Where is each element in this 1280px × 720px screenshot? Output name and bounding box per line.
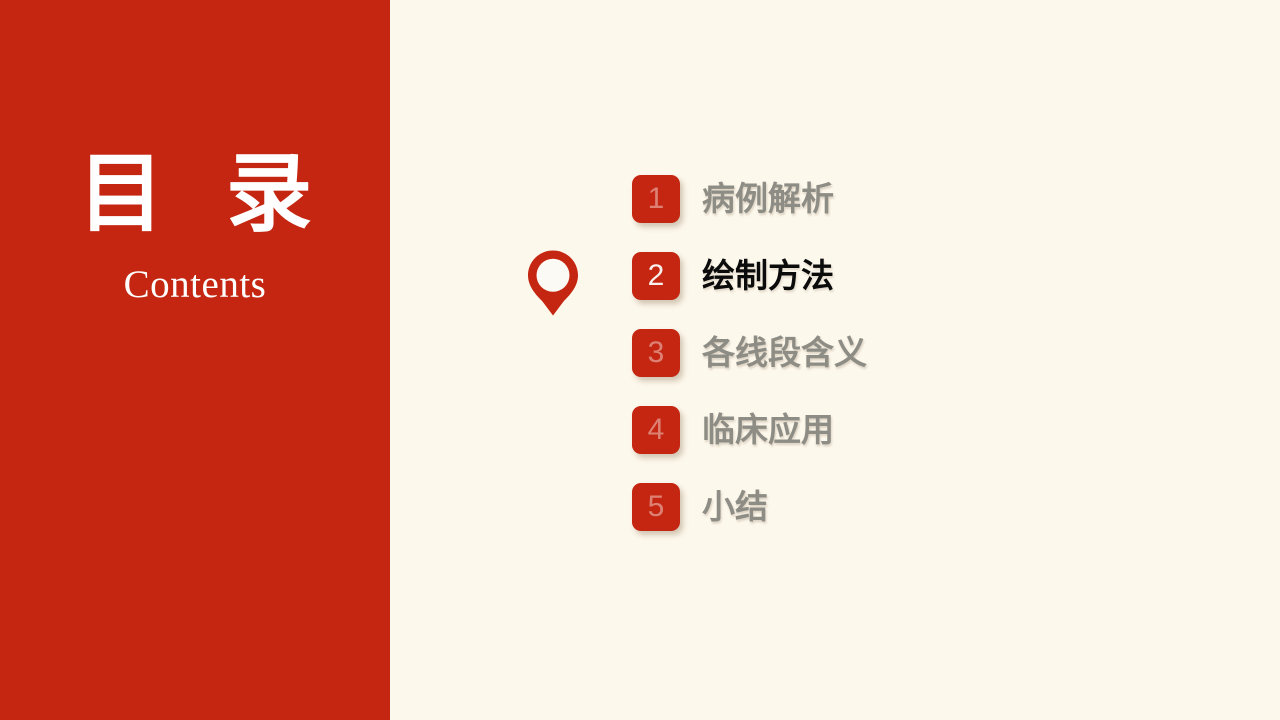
slide-root: 目 录 Contents 1 病例解析 2 绘制方法 3 各线段含义 bbox=[0, 0, 1280, 720]
page-title: 目 录 bbox=[0, 148, 390, 240]
list-item[interactable]: 3 各线段含义 bbox=[632, 329, 1192, 377]
item-label[interactable]: 病例解析 bbox=[702, 175, 834, 223]
list-item[interactable]: 5 小结 bbox=[632, 483, 1192, 531]
item-label[interactable]: 绘制方法 bbox=[702, 252, 834, 300]
map-pin-icon bbox=[525, 249, 581, 317]
item-label[interactable]: 小结 bbox=[702, 483, 768, 531]
page-subtitle: Contents bbox=[0, 262, 390, 308]
item-number-badge[interactable]: 5 bbox=[632, 483, 680, 531]
list-item[interactable]: 2 绘制方法 bbox=[632, 252, 1192, 300]
item-number-badge[interactable]: 4 bbox=[632, 406, 680, 454]
list-item[interactable]: 1 病例解析 bbox=[632, 175, 1192, 223]
right-content-panel: 1 病例解析 2 绘制方法 3 各线段含义 4 临床应用 5 小结 bbox=[390, 0, 1280, 720]
item-number-badge[interactable]: 3 bbox=[632, 329, 680, 377]
left-red-panel: 目 录 Contents bbox=[0, 0, 390, 720]
contents-list: 1 病例解析 2 绘制方法 3 各线段含义 4 临床应用 5 小结 bbox=[632, 175, 1192, 560]
title-block: 目 录 Contents bbox=[0, 148, 390, 308]
item-number-badge[interactable]: 2 bbox=[632, 252, 680, 300]
list-item[interactable]: 4 临床应用 bbox=[632, 406, 1192, 454]
item-label[interactable]: 各线段含义 bbox=[702, 329, 867, 377]
item-number-badge[interactable]: 1 bbox=[632, 175, 680, 223]
item-label[interactable]: 临床应用 bbox=[702, 406, 834, 454]
